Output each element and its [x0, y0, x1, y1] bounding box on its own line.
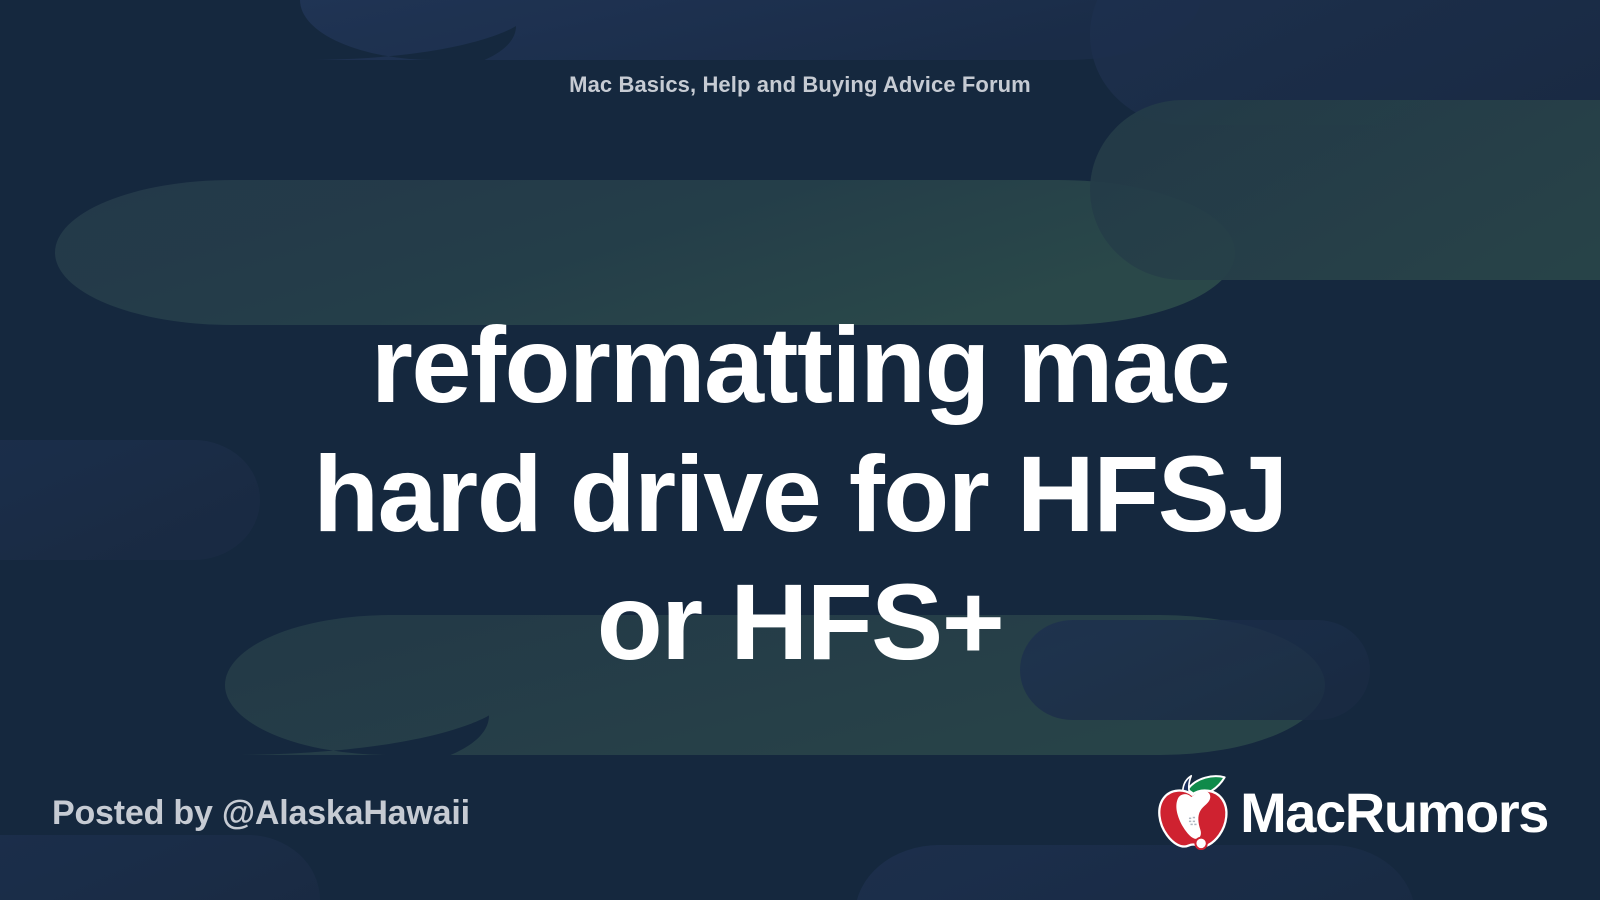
posted-by-label: Posted by @AlaskaHawaii: [52, 794, 470, 833]
share-card: Mac Basics, Help and Buying Advice Forum…: [0, 0, 1600, 900]
brand-name: MacRumors: [1240, 785, 1548, 841]
brand-lockup: MacRumors: [1154, 772, 1548, 854]
macrumors-apple-icon: [1154, 772, 1230, 854]
card-footer: Posted by @AlaskaHawaii: [0, 770, 1600, 856]
thread-title: reformatting mac hard drive for HFSJ or …: [270, 301, 1330, 687]
card-content: Mac Basics, Help and Buying Advice Forum…: [0, 0, 1600, 900]
